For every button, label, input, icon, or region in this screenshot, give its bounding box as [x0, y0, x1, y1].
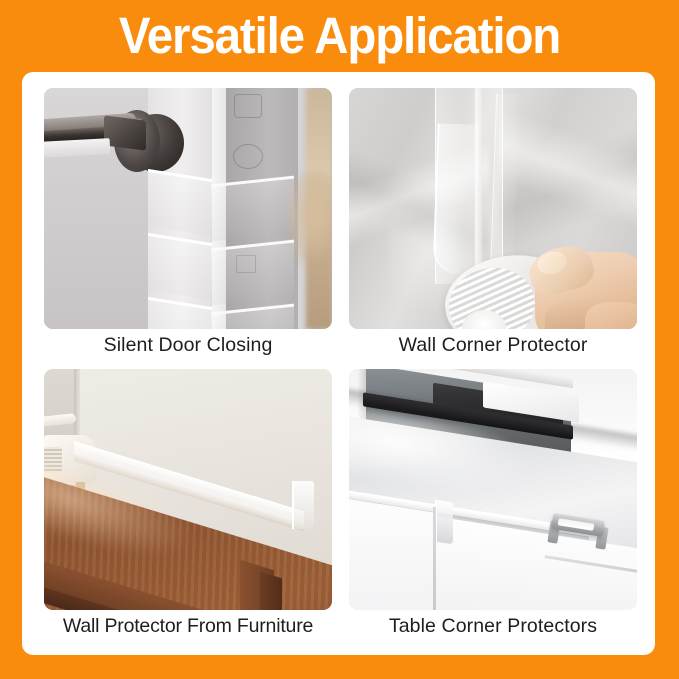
photo-caption: Table Corner Protectors — [349, 612, 637, 640]
gallery-item-silent-door-closing[interactable]: Silent Door Closing — [44, 88, 332, 329]
door-handle-lever-neck — [104, 115, 146, 150]
gallery-grid: Silent Door Closing — [44, 88, 633, 639]
photo-table-corner-protectors[interactable] — [349, 369, 637, 610]
finger — [585, 302, 637, 329]
protector-side — [211, 240, 294, 306]
protector-strip-end-cap — [292, 481, 314, 529]
photo-caption: Silent Door Closing — [44, 331, 332, 359]
protector-side — [211, 176, 294, 242]
gallery-item-table-corner-protectors[interactable]: Table Corner Protectors — [349, 369, 637, 610]
gallery-card: Silent Door Closing — [22, 72, 655, 655]
photo-caption: Wall Corner Protector — [349, 331, 637, 359]
door-panel-detail-top — [234, 94, 262, 118]
photo-wall-corner-protector[interactable] — [349, 88, 637, 329]
page-title: Versatile Application — [24, 6, 655, 66]
gallery-item-wall-protector-from-furniture[interactable]: Wall Protector From Furniture — [44, 369, 332, 610]
table-leg-shadow-side — [260, 572, 282, 610]
cabinet-front-left-drawer — [349, 497, 435, 610]
cabinet-drawer-seam-vertical — [433, 507, 436, 610]
door-panel-detail-circle — [233, 144, 263, 169]
tape-peeling-edge — [432, 123, 479, 274]
photo-silent-door-closing[interactable] — [44, 88, 332, 329]
product-infographic: Versatile Application — [0, 0, 679, 679]
gallery-item-wall-corner-protector[interactable]: Wall Corner Protector — [349, 88, 637, 329]
protector-face — [148, 233, 212, 300]
protector-strip-end-cap — [435, 500, 453, 545]
photo-caption: Wall Protector From Furniture — [44, 612, 332, 640]
protector-face — [148, 169, 212, 236]
photo-wall-protector-from-furniture[interactable] — [44, 369, 332, 610]
